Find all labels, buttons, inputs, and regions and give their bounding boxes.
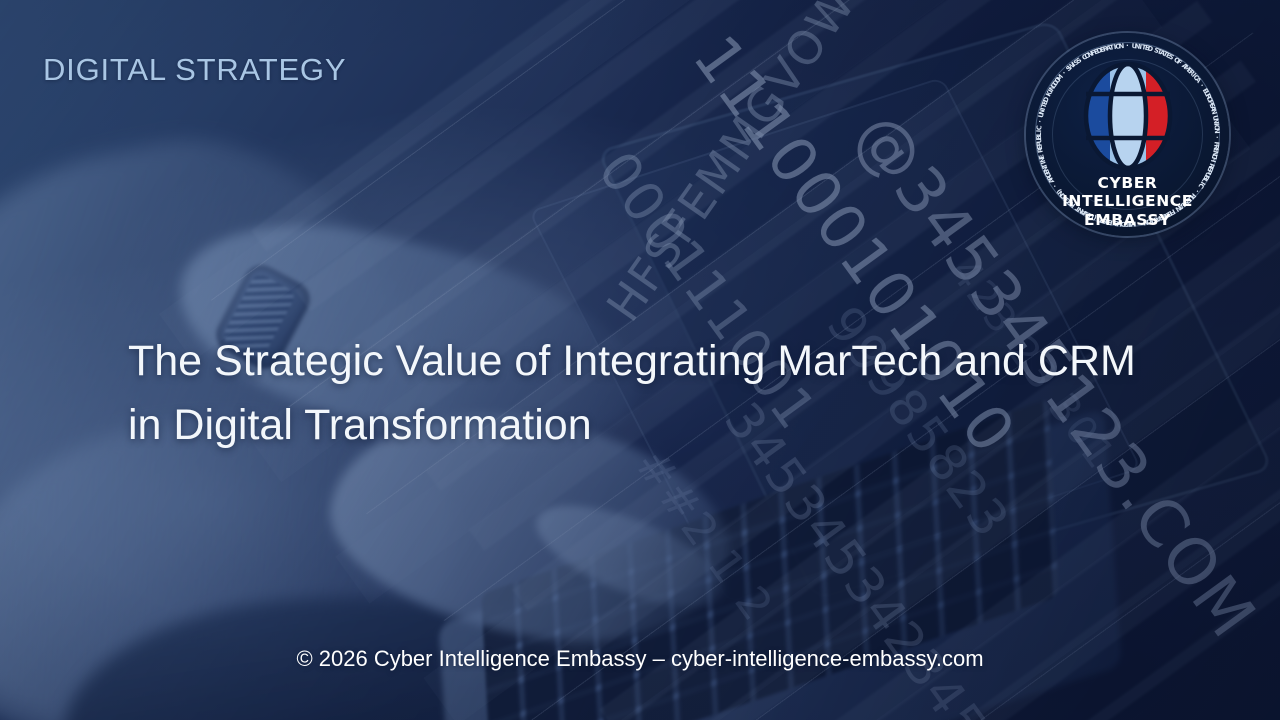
logo-badge[interactable]: · UNITED STATES OF AMERICA · EUROPEAN UN… (1026, 33, 1229, 236)
logo-name-line-1: CYBER (1026, 174, 1229, 192)
logo-rim-char: · (1212, 135, 1220, 138)
logo-wordmark: CYBER INTELLIGENCE EMBASSY (1026, 174, 1229, 229)
globe-icon (1080, 60, 1176, 172)
logo-rim-char (1212, 132, 1220, 135)
page-title: The Strategic Value of Integrating MarTe… (128, 330, 1138, 457)
page-footer: © 2026 Cyber Intelligence Embassy – cybe… (0, 646, 1280, 672)
slide-canvas: 111000101010 000111001 HFSFEMMGVOWMFV 34… (0, 0, 1280, 720)
logo-name-line-2: INTELLIGENCE (1026, 192, 1229, 210)
logo-rim-char: · (1126, 42, 1129, 50)
logo-name-line-3: EMBASSY (1026, 211, 1229, 229)
logo-rim-char (1123, 42, 1126, 50)
page-eyebrow: DIGITAL STRATEGY (43, 52, 346, 88)
